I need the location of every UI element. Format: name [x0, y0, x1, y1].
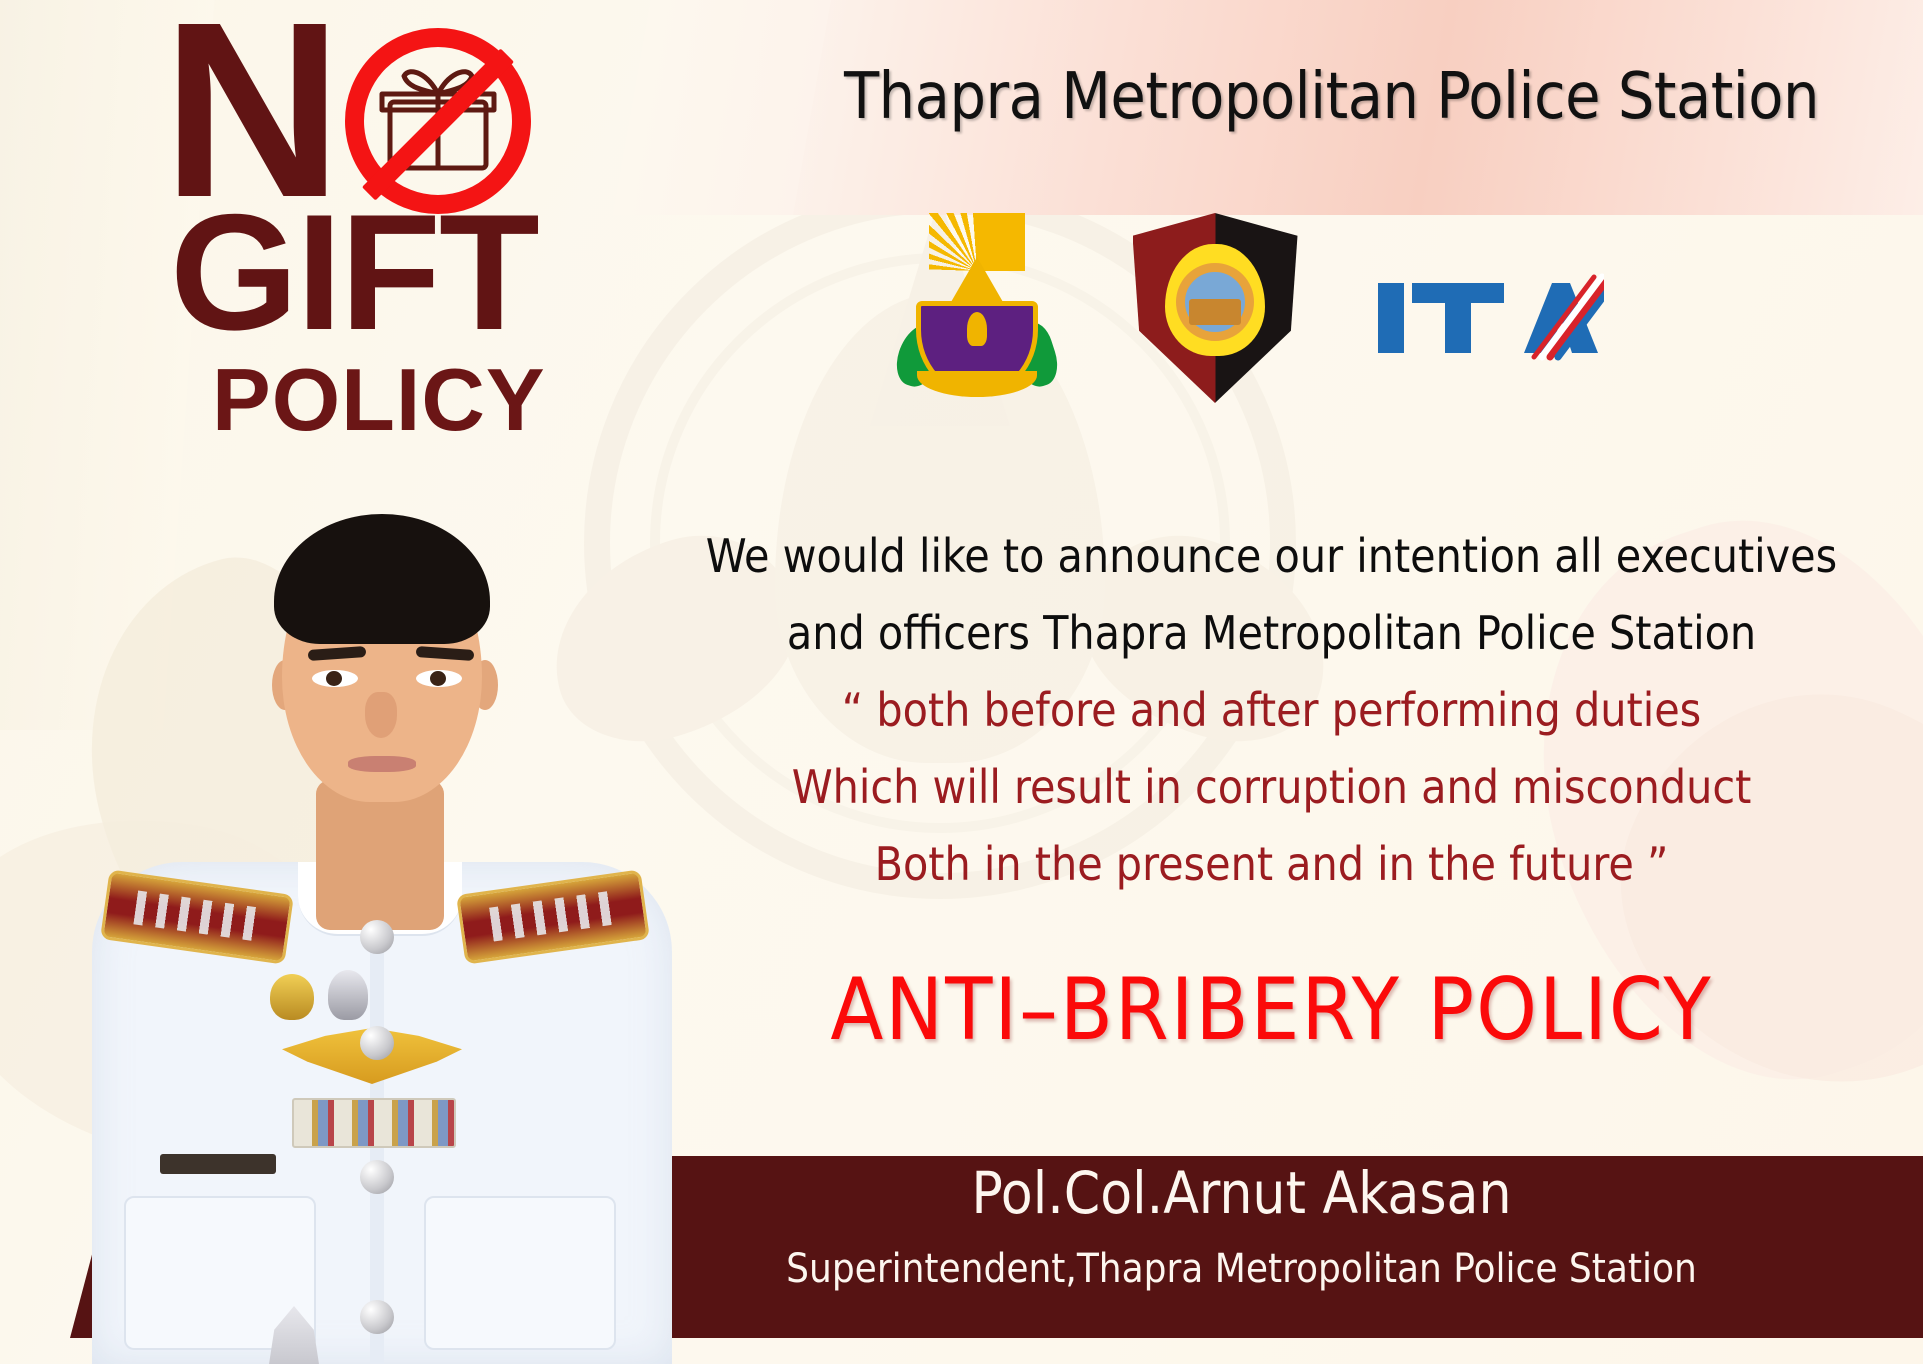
policy-statement: We would like to announce our intention … — [620, 518, 1923, 903]
officer-portrait — [60, 470, 700, 1364]
thapra-station-badge-icon — [1133, 213, 1298, 403]
statement-line: We would like to announce our intention … — [620, 518, 1923, 595]
no-gift-word-gift: GIFT — [170, 192, 538, 352]
royal-thai-police-crest-icon — [897, 213, 1057, 403]
quote-line: Both in the present and in the future ” — [620, 826, 1923, 903]
ita-logo-icon — [1374, 253, 1604, 363]
officer-name: Pol.Col.Arnut Akasan — [560, 1162, 1923, 1224]
statement-line: and officers Thapra Metropolitan Police … — [620, 595, 1923, 672]
anti-bribery-headline: ANTI–BRIBERY POLICY — [620, 960, 1923, 1060]
logo-row — [890, 218, 1610, 398]
quote-line: “ both before and after performing dutie… — [620, 672, 1923, 749]
quote-line: Which will result in corruption and misc… — [620, 749, 1923, 826]
no-gift-policy-poster: Thapra Metropolitan Police Station N G — [0, 0, 1923, 1364]
no-gift-word-policy: POLICY — [212, 355, 546, 445]
officer-role: Superintendent,Thapra Metropolitan Polic… — [560, 1246, 1923, 1292]
no-gift-policy-block: N GIFT POLICY — [150, 10, 620, 220]
page-title: Thapra Metropolitan Police Station — [740, 60, 1923, 134]
